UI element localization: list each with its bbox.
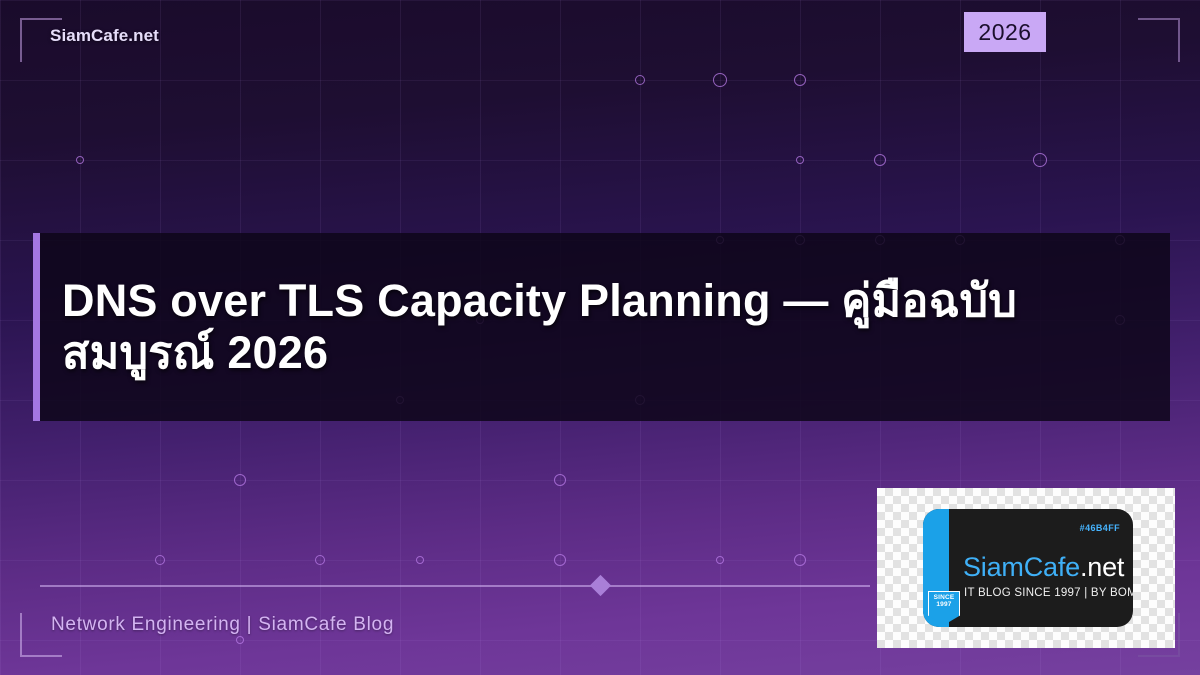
logo-tagline: IT BLOG SINCE 1997 | BY BOM [964, 587, 1133, 599]
title-band: DNS over TLS Capacity Planning — คู่มือฉ… [33, 233, 1170, 421]
decor-dot [794, 554, 806, 566]
year-badge: 2026 [964, 12, 1046, 52]
divider-diamond-marker [590, 575, 611, 596]
decor-dot [416, 556, 424, 564]
decor-dot [315, 555, 325, 565]
brand-logo-text: SiamCafe.net [50, 26, 159, 46]
decor-dot [796, 156, 804, 164]
decor-dot [236, 636, 244, 644]
ribbon-line-2: 1997 [936, 602, 951, 609]
logo-inner-card: SINCE 1997 #46B4FF SiamCafe.net IT BLOG … [923, 509, 1133, 627]
decor-dot [713, 73, 727, 87]
decor-dot [155, 555, 165, 565]
logo-wordmark: SiamCafe.net [963, 552, 1124, 583]
decor-dot [874, 154, 886, 166]
hex-color-label: #46B4FF [1080, 523, 1120, 533]
wordmark-suffix: .net [1080, 552, 1124, 582]
banner-canvas: SiamCafe.net 2026 DNS over TLS Capacity … [0, 0, 1200, 675]
page-title: DNS over TLS Capacity Planning — คู่มือฉ… [40, 275, 1150, 379]
footer-label: Network Engineering | SiamCafe Blog [51, 614, 394, 636]
wordmark-primary: SiamCafe [963, 552, 1080, 582]
decor-dot [794, 74, 806, 86]
footer-divider [40, 585, 870, 587]
decor-dot [76, 156, 84, 164]
corner-bracket-top-right [1138, 18, 1180, 62]
decor-dot [554, 554, 566, 566]
decor-dot [716, 556, 724, 564]
decor-dot [635, 75, 645, 85]
year-badge-label: 2026 [978, 19, 1031, 46]
decor-dot [554, 474, 566, 486]
decor-dot [234, 474, 246, 486]
decor-dot [1033, 153, 1047, 167]
logo-card: SINCE 1997 #46B4FF SiamCafe.net IT BLOG … [877, 488, 1175, 648]
